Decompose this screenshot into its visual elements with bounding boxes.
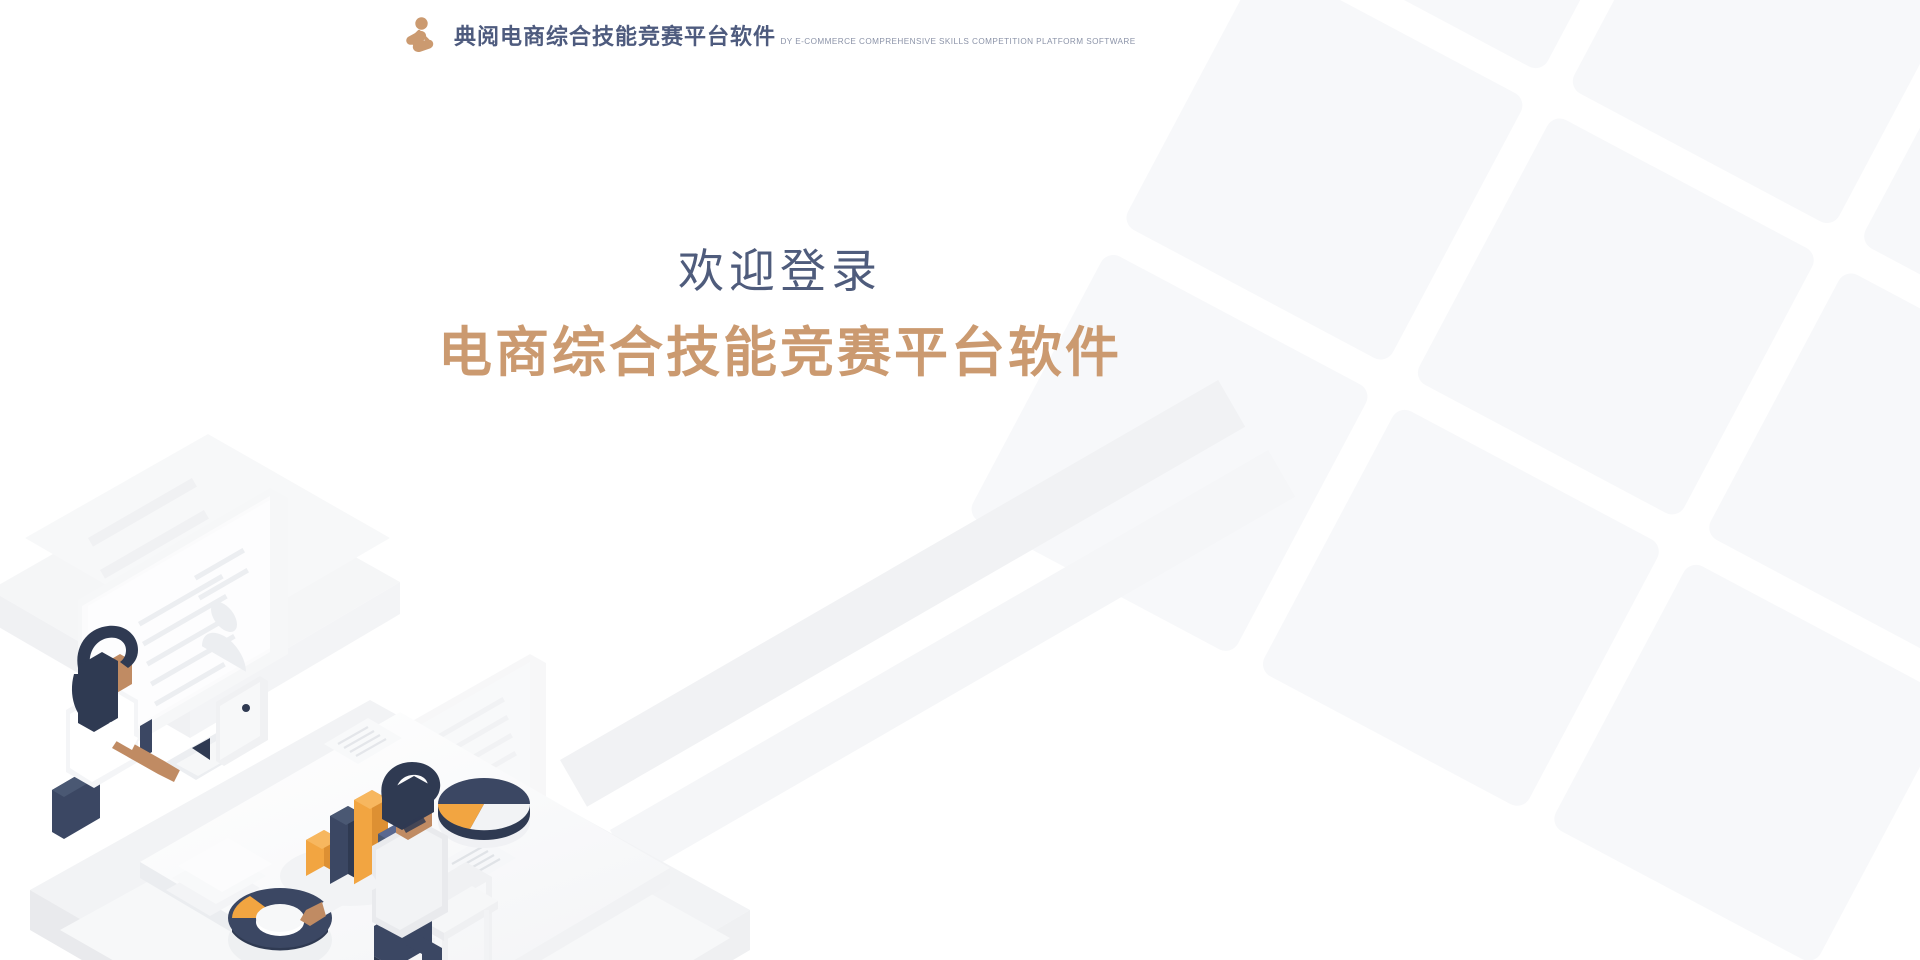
brand-logo-lockup: 典阅电商综合技能竞赛平台软件 DY E-COMMERCE COMPREHENSI…	[396, 14, 1136, 60]
background-diagonal-band-1	[560, 380, 1245, 807]
wall-monitor-profile-card	[78, 488, 288, 766]
product-name-heading: 电商综合技能竞赛平台软件	[0, 323, 1560, 383]
bar-chart-3d	[280, 790, 420, 906]
laptop	[166, 676, 268, 780]
paper-document-top	[324, 718, 402, 764]
brand-subtitle: DY E-COMMERCE COMPREHENSIVE SKILLS COMPE…	[780, 37, 1135, 46]
woman-with-laptop	[48, 626, 268, 839]
background-diagonal-grid-pattern	[920, 0, 1920, 960]
person-diamond-logo-icon	[396, 14, 442, 60]
hero-heading-block: 欢迎登录 电商综合技能竞赛平台软件	[0, 246, 1560, 383]
paper-documents-left	[166, 838, 272, 916]
welcome-heading: 欢迎登录	[0, 246, 1560, 297]
brand-title: 典阅电商综合技能竞赛平台软件	[454, 24, 776, 49]
chair	[418, 862, 498, 960]
pie-chart-small	[438, 778, 530, 848]
meeting-table	[140, 712, 670, 960]
floor-platform	[30, 700, 750, 960]
wall-monitor-pie-chart	[378, 654, 546, 890]
login-welcome-page: 典阅电商综合技能竞赛平台软件 DY E-COMMERCE COMPREHENSI…	[0, 0, 1920, 960]
seated-man	[300, 762, 498, 960]
monitor-bar-chart	[96, 690, 152, 762]
paper-document-right	[438, 838, 516, 884]
donut-chart-large	[228, 888, 332, 960]
background-slab-stack	[0, 434, 400, 738]
isometric-team-analytics-illustration	[0, 270, 870, 960]
background-diagonal-band-2	[610, 450, 1295, 877]
